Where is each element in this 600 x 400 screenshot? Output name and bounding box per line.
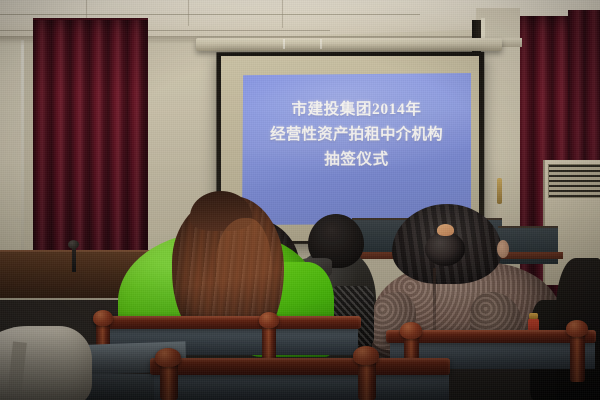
slide-line-1: 市建投集团2014年 [242,97,471,122]
projected-slide: 市建投集团2014年 经营性资产拍租中介机构 抽签仪式 [242,73,471,225]
slide-text-block: 市建投集团2014年 经营性资产拍租中介机构 抽签仪式 [242,97,471,172]
slide-line-2: 经营性资产拍租中介机构 [242,122,471,147]
microphone-icon [68,240,79,249]
person-brown-ear [497,240,509,258]
bench-post [570,332,585,382]
ceiling-grid-line [0,14,420,15]
bench-post [160,362,178,400]
photo-scene: 市建投集团2014年 经营性资产拍租中介机构 抽签仪式 [0,0,600,400]
bench-finial [155,348,181,367]
bench-finial [259,312,279,328]
bench-rail[interactable] [150,358,450,375]
person-green-hair-highlight [216,218,272,328]
curtain-left [33,20,148,282]
screen-case-seam [283,39,285,49]
bench-rail[interactable] [96,316,361,329]
ceiling-grid-line [188,0,189,26]
bottle-cap [529,313,538,319]
hair-tie-icon [437,224,454,236]
bench-finial [400,322,422,339]
bench-finial [566,320,588,337]
screen-case-seam [320,39,322,49]
air-conditioner-vent [548,164,600,198]
bench-finial [353,346,379,365]
ceiling-grid-line [282,0,283,28]
slide-line-3: 抽签仪式 [242,147,471,172]
door-handle[interactable] [497,178,502,204]
bench-finial [93,310,113,326]
projector-screen-case [196,38,502,51]
person-brown-hair-bun [425,232,465,266]
bench-post [358,360,376,400]
bench-panel [154,375,449,400]
microphone-stand [72,246,76,272]
